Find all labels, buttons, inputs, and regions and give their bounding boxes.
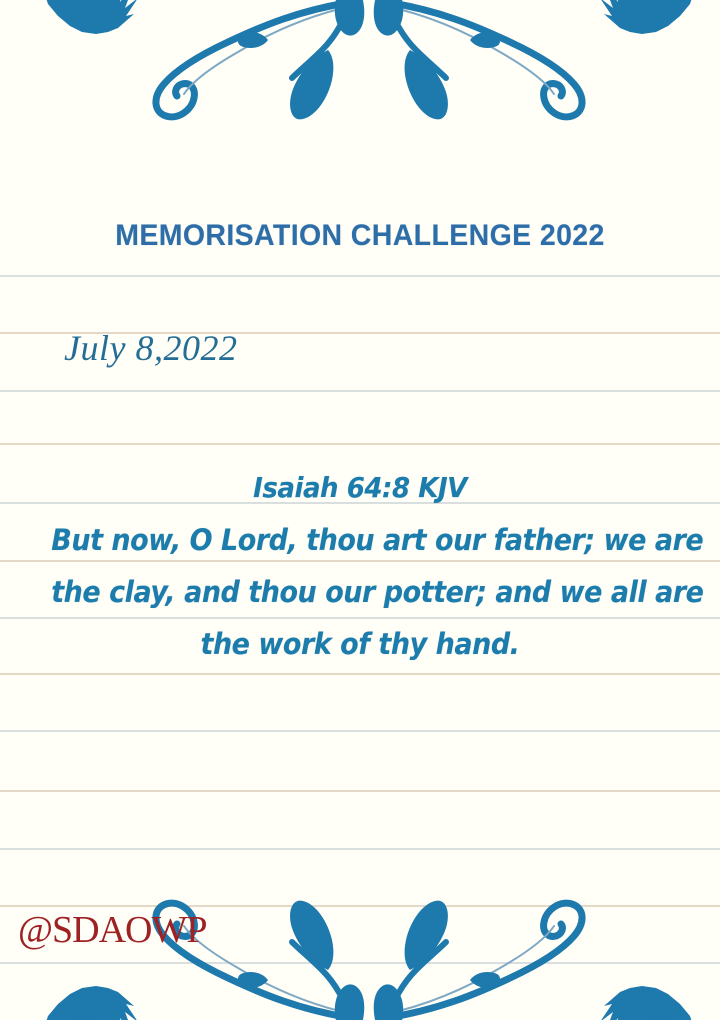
watermark-handle: @SDAOWP: [18, 908, 206, 952]
memory-verse-card: MEMORISATION CHALLENGE 2022 July 8,2022 …: [0, 0, 720, 1020]
verse-line-2: the clay, and thou our potter; and we al…: [51, 566, 669, 618]
entry-date: July 8,2022: [64, 327, 237, 369]
verse-block: Isaiah 64:8 KJV But now, O Lord, thou ar…: [51, 462, 669, 670]
card-content: MEMORISATION CHALLENGE 2022 July 8,2022 …: [0, 0, 720, 1020]
verse-reference: Isaiah 64:8 KJV: [51, 462, 669, 514]
verse-line-1: But now, O Lord, thou art our father; we…: [51, 514, 669, 566]
verse-line-3: the work of thy hand.: [51, 618, 669, 670]
page-title: MEMORISATION CHALLENGE 2022: [18, 219, 702, 253]
